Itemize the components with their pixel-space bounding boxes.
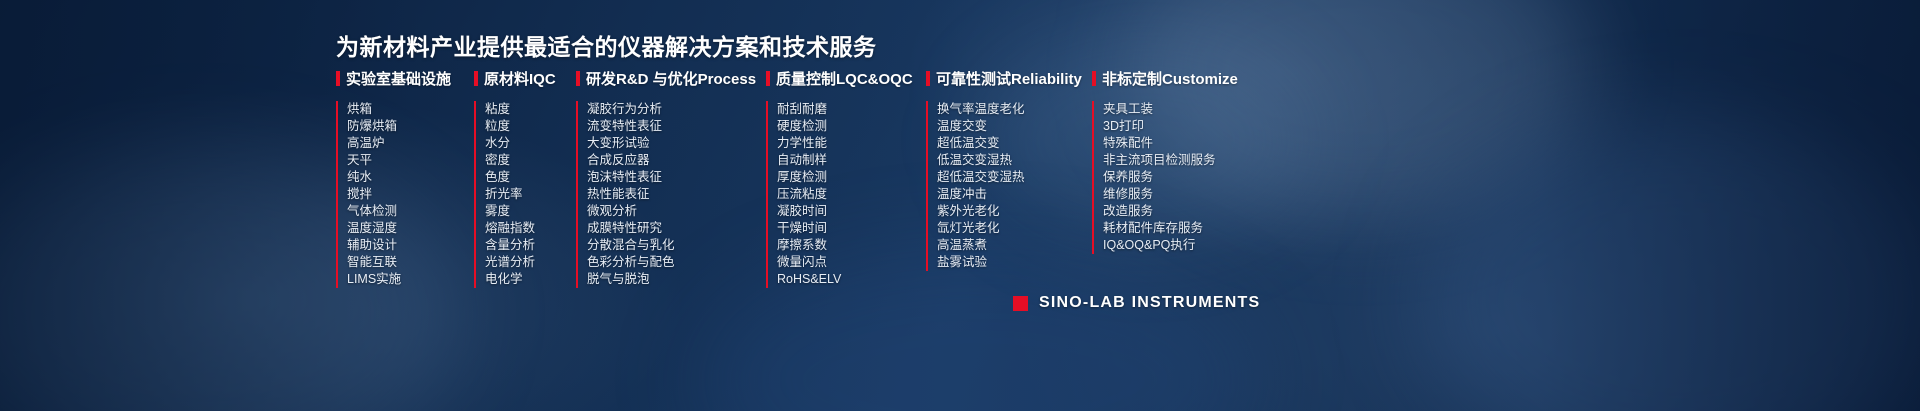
list-item[interactable]: 超低温交变 — [937, 135, 1092, 152]
column-header-label: 研发R&D 与优化Process — [586, 68, 756, 89]
red-bar-icon — [926, 71, 930, 86]
list-item[interactable]: 搅拌 — [347, 186, 474, 203]
list-item[interactable]: 辅助设计 — [347, 237, 474, 254]
column-raw-material-iqc: 原材料IQC 粘度 粒度 水分 密度 色度 折光率 雾度 熔融指数 含量分析 光… — [474, 68, 576, 288]
column-quality-control: 质量控制LQC&OQC 耐刮耐磨 硬度检测 力学性能 自动制样 厚度检测 压流粘… — [766, 68, 926, 288]
list-item[interactable]: 3D打印 — [1103, 118, 1302, 135]
list-item[interactable]: 泡沫特性表征 — [587, 169, 766, 186]
slide-canvas: 为新材料产业提供最适合的仪器解决方案和技术服务 实验室基础设施 烘箱 防爆烘箱 … — [0, 0, 1920, 411]
list-item[interactable]: 高温炉 — [347, 135, 474, 152]
red-bar-icon — [336, 71, 340, 86]
list-item[interactable]: 密度 — [485, 152, 576, 169]
list-item[interactable]: 夹具工装 — [1103, 101, 1302, 118]
list-item[interactable]: LIMS实施 — [347, 271, 474, 288]
column-reliability: 可靠性测试Reliability 换气率温度老化 温度交变 超低温交变 低温交变… — [926, 68, 1092, 288]
list-item[interactable]: 温度交变 — [937, 118, 1092, 135]
list-item[interactable]: 流变特性表征 — [587, 118, 766, 135]
list-item[interactable]: 脱气与脱泡 — [587, 271, 766, 288]
column-header: 实验室基础设施 — [336, 68, 474, 88]
list-item[interactable]: 温度冲击 — [937, 186, 1092, 203]
list-item[interactable]: 耐刮耐磨 — [777, 101, 926, 118]
list-item[interactable]: 大变形试验 — [587, 135, 766, 152]
list-item[interactable]: 保养服务 — [1103, 169, 1302, 186]
list-item[interactable]: 摩擦系数 — [777, 237, 926, 254]
column-list: 粘度 粒度 水分 密度 色度 折光率 雾度 熔融指数 含量分析 光谱分析 电化学 — [474, 101, 576, 288]
list-item[interactable]: 自动制样 — [777, 152, 926, 169]
list-item[interactable]: 分散混合与乳化 — [587, 237, 766, 254]
red-bar-icon — [766, 71, 770, 86]
list-item[interactable]: 特殊配件 — [1103, 135, 1302, 152]
list-item[interactable]: 光谱分析 — [485, 254, 576, 271]
red-bar-icon — [576, 71, 580, 86]
column-header-label: 可靠性测试Reliability — [936, 68, 1082, 89]
list-item[interactable]: 维修服务 — [1103, 186, 1302, 203]
column-header: 原材料IQC — [474, 68, 576, 88]
column-header-label: 质量控制LQC&OQC — [776, 68, 913, 89]
list-item[interactable]: 高温蒸煮 — [937, 237, 1092, 254]
list-item[interactable]: RoHS&ELV — [777, 271, 926, 288]
list-item[interactable]: 雾度 — [485, 203, 576, 220]
list-item[interactable]: 氙灯光老化 — [937, 220, 1092, 237]
column-lab-infrastructure: 实验室基础设施 烘箱 防爆烘箱 高温炉 天平 纯水 搅拌 气体检测 温度湿度 辅… — [336, 68, 474, 288]
red-square-icon — [1013, 296, 1028, 311]
column-header: 非标定制Customize — [1092, 68, 1302, 88]
list-item[interactable]: 低温交变湿热 — [937, 152, 1092, 169]
list-item[interactable]: 智能互联 — [347, 254, 474, 271]
list-item[interactable]: 微量闪点 — [777, 254, 926, 271]
list-item[interactable]: 合成反应器 — [587, 152, 766, 169]
list-item[interactable]: 换气率温度老化 — [937, 101, 1092, 118]
list-item[interactable]: 温度湿度 — [347, 220, 474, 237]
column-customize: 非标定制Customize 夹具工装 3D打印 特殊配件 非主流项目检测服务 保… — [1092, 68, 1302, 288]
list-item[interactable]: 改造服务 — [1103, 203, 1302, 220]
list-item[interactable]: 厚度检测 — [777, 169, 926, 186]
list-item[interactable]: 压流粘度 — [777, 186, 926, 203]
column-header: 质量控制LQC&OQC — [766, 68, 926, 88]
column-list: 烘箱 防爆烘箱 高温炉 天平 纯水 搅拌 气体检测 温度湿度 辅助设计 智能互联… — [336, 101, 474, 288]
list-item[interactable]: 色彩分析与配色 — [587, 254, 766, 271]
list-item[interactable]: 气体检测 — [347, 203, 474, 220]
list-item[interactable]: 水分 — [485, 135, 576, 152]
list-item[interactable]: 防爆烘箱 — [347, 118, 474, 135]
list-item[interactable]: IQ&OQ&PQ执行 — [1103, 237, 1302, 254]
brand-name: SINO-LAB INSTRUMENTS — [1039, 294, 1260, 312]
list-item[interactable]: 折光率 — [485, 186, 576, 203]
list-item[interactable]: 天平 — [347, 152, 474, 169]
list-item[interactable]: 电化学 — [485, 271, 576, 288]
column-header-label: 原材料IQC — [484, 68, 556, 89]
column-header-label: 实验室基础设施 — [346, 68, 451, 89]
column-rd-process: 研发R&D 与优化Process 凝胶行为分析 流变特性表征 大变形试验 合成反… — [576, 68, 766, 288]
list-item[interactable]: 耗材配件库存服务 — [1103, 220, 1302, 237]
list-item[interactable]: 粘度 — [485, 101, 576, 118]
column-list: 凝胶行为分析 流变特性表征 大变形试验 合成反应器 泡沫特性表征 热性能表征 微… — [576, 101, 766, 288]
page-title: 为新材料产业提供最适合的仪器解决方案和技术服务 — [336, 28, 877, 62]
list-item[interactable]: 紫外光老化 — [937, 203, 1092, 220]
column-header-label: 非标定制Customize — [1102, 68, 1238, 89]
list-item[interactable]: 力学性能 — [777, 135, 926, 152]
red-bar-icon — [474, 71, 478, 86]
list-item[interactable]: 纯水 — [347, 169, 474, 186]
list-item[interactable]: 硬度检测 — [777, 118, 926, 135]
list-item[interactable]: 含量分析 — [485, 237, 576, 254]
column-header: 研发R&D 与优化Process — [576, 68, 766, 88]
brand-logo: SINO-LAB INSTRUMENTS — [1013, 294, 1260, 312]
list-item[interactable]: 盐雾试验 — [937, 254, 1092, 271]
list-item[interactable]: 凝胶时间 — [777, 203, 926, 220]
list-item[interactable]: 粒度 — [485, 118, 576, 135]
column-list: 夹具工装 3D打印 特殊配件 非主流项目检测服务 保养服务 维修服务 改造服务 … — [1092, 101, 1302, 254]
slide-content: 为新材料产业提供最适合的仪器解决方案和技术服务 实验室基础设施 烘箱 防爆烘箱 … — [0, 0, 1920, 411]
column-list: 耐刮耐磨 硬度检测 力学性能 自动制样 厚度检测 压流粘度 凝胶时间 干燥时间 … — [766, 101, 926, 288]
red-bar-icon — [1092, 71, 1096, 86]
list-item[interactable]: 热性能表征 — [587, 186, 766, 203]
list-item[interactable]: 凝胶行为分析 — [587, 101, 766, 118]
list-item[interactable]: 成膜特性研究 — [587, 220, 766, 237]
column-header: 可靠性测试Reliability — [926, 68, 1092, 88]
list-item[interactable]: 熔融指数 — [485, 220, 576, 237]
list-item[interactable]: 烘箱 — [347, 101, 474, 118]
capability-columns: 实验室基础设施 烘箱 防爆烘箱 高温炉 天平 纯水 搅拌 气体检测 温度湿度 辅… — [336, 68, 1302, 288]
column-list: 换气率温度老化 温度交变 超低温交变 低温交变湿热 超低温交变湿热 温度冲击 紫… — [926, 101, 1092, 271]
list-item[interactable]: 非主流项目检测服务 — [1103, 152, 1302, 169]
list-item[interactable]: 超低温交变湿热 — [937, 169, 1092, 186]
list-item[interactable]: 干燥时间 — [777, 220, 926, 237]
list-item[interactable]: 微观分析 — [587, 203, 766, 220]
list-item[interactable]: 色度 — [485, 169, 576, 186]
